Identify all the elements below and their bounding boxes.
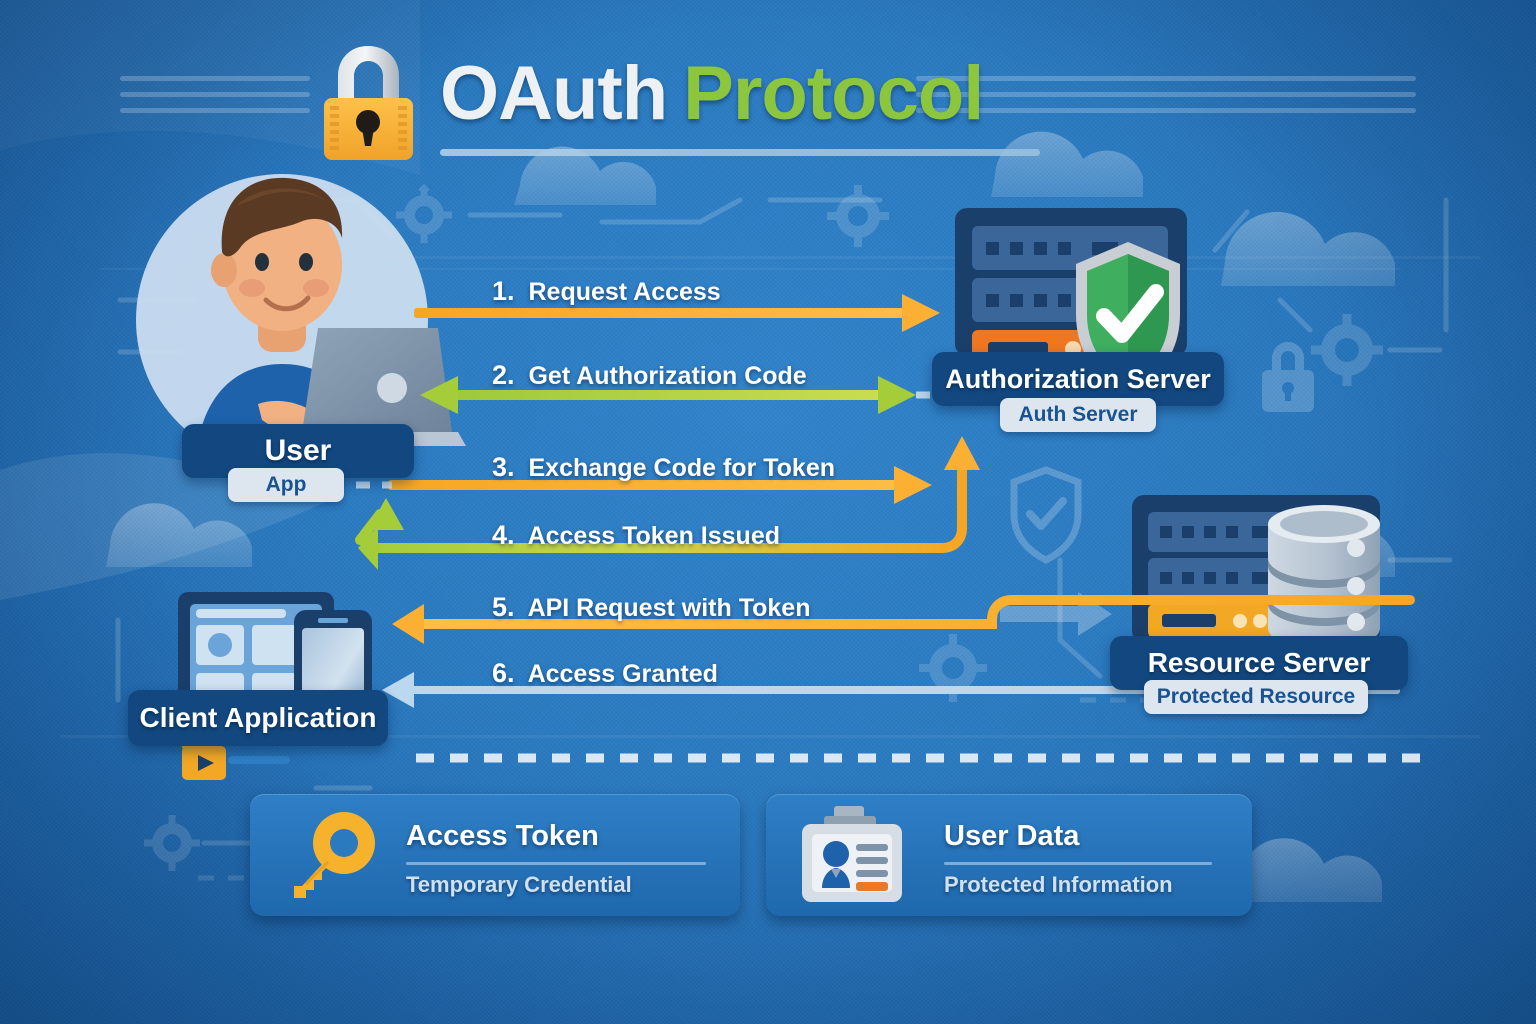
node-authorization-server-label: Authorization Server <box>945 364 1211 395</box>
node-user-badge: App <box>228 468 344 502</box>
media-folder-icon <box>182 742 226 780</box>
flow-step-6: 6. Access Granted <box>492 658 718 689</box>
node-authorization-server-badge: Auth Server <box>1000 398 1156 432</box>
node-client-application[interactable]: Client Application <box>128 690 388 746</box>
flow-step-1: 1. Request Access <box>492 276 721 307</box>
flow-step-2-number: 2. <box>492 360 515 390</box>
node-user-label: User <box>265 434 332 468</box>
flow-step-2: 2. Get Authorization Code <box>492 360 807 391</box>
flow-step-4-label: Access Token Issued <box>528 522 780 550</box>
person-at-laptop-icon <box>136 174 466 466</box>
browser-and-phone-icon <box>178 592 372 780</box>
node-resource-server-label: Resource Server <box>1148 647 1371 679</box>
oauth-protocol-infographic: OAuthProtocol <box>0 0 1536 1024</box>
node-client-application-label: Client Application <box>140 702 377 734</box>
flow-step-5-number: 5. <box>492 592 515 622</box>
legend-access-token-title: Access Token <box>406 820 599 853</box>
server-rack-with-database-icon <box>1132 495 1380 650</box>
flow-step-6-number: 6. <box>492 658 515 688</box>
legend-access-token-rule <box>406 862 706 865</box>
key-icon <box>278 810 388 906</box>
flow-step-6-label: Access Granted <box>528 660 718 688</box>
flow-step-5-label: API Request with Token <box>528 594 811 622</box>
legend-user-data-title: User Data <box>944 820 1079 853</box>
flow-step-3: 3. Exchange Code for Token <box>492 452 835 483</box>
flow-step-2-label: Get Authorization Code <box>528 362 806 390</box>
flow-step-3-number: 3. <box>492 452 515 482</box>
flow-step-4-number: 4. <box>492 520 515 550</box>
flow-step-5: 5. API Request with Token <box>492 592 810 623</box>
node-resource-server-badge: Protected Resource <box>1144 680 1368 714</box>
flow-step-3-label: Exchange Code for Token <box>528 454 835 482</box>
flow-step-4: 4. Access Token Issued <box>492 520 780 551</box>
id-badge-icon <box>798 806 910 906</box>
legend-user-data-subtitle: Protected Information <box>944 872 1173 898</box>
legend-user-data-rule <box>944 862 1212 865</box>
flow-step-1-label: Request Access <box>528 278 720 306</box>
legend-access-token-subtitle: Temporary Credential <box>406 872 632 898</box>
flow-step-1-number: 1. <box>492 276 515 306</box>
